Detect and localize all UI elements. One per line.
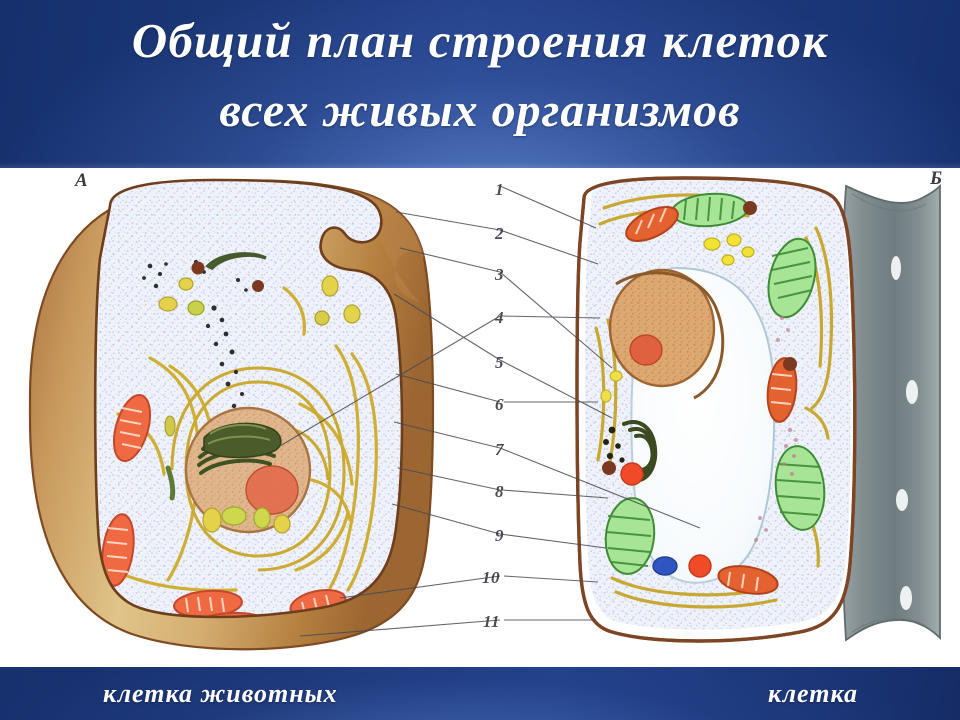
title-line-1: Общий план строения клеток xyxy=(0,6,960,76)
animal-cell-illustration xyxy=(30,168,433,667)
callout-number-1: 1 xyxy=(470,180,504,200)
caption-banner: клетка животных клетка xyxy=(0,667,960,720)
callout-number-5: 5 xyxy=(470,353,504,373)
callout-number-7: 7 xyxy=(470,440,504,460)
caption-animal-cell: клетка животных xyxy=(103,679,338,709)
animal-lysosome xyxy=(252,280,264,292)
plant-lysosome xyxy=(783,357,797,371)
cell-diagram-plate: А Б 1 2 3 4 5 6 7 8 9 10 11 xyxy=(0,168,960,667)
title-banner: Общий план строения клеток всех живых ор… xyxy=(0,0,960,168)
page-title: Общий план строения клеток всех живых ор… xyxy=(0,6,960,146)
callout-number-9: 9 xyxy=(470,526,504,546)
plant-vesicle-red xyxy=(689,555,711,577)
title-line-2: всех живых организмов xyxy=(0,76,960,146)
slide-root: Общий план строения клеток всех живых ор… xyxy=(0,0,960,720)
plant-vesicle-red xyxy=(621,463,643,485)
callout-number-10: 10 xyxy=(466,568,500,588)
panel-label-animal: А xyxy=(75,170,88,192)
callout-number-8: 8 xyxy=(470,482,504,502)
callout-number-6: 6 xyxy=(470,395,504,415)
plant-cell-illustration xyxy=(576,168,940,667)
plant-lysosome xyxy=(602,461,616,475)
callout-number-3: 3 xyxy=(470,265,504,285)
caption-plant-cell: клетка xyxy=(768,679,858,709)
plant-vesicle-blue xyxy=(653,557,677,575)
callout-number-11: 11 xyxy=(466,612,500,632)
plant-lysosome xyxy=(743,201,757,215)
panel-label-plant: Б xyxy=(930,168,943,190)
callout-number-2: 2 xyxy=(470,224,504,244)
animal-lysosome xyxy=(192,262,205,275)
callout-number-4: 4 xyxy=(470,308,504,328)
